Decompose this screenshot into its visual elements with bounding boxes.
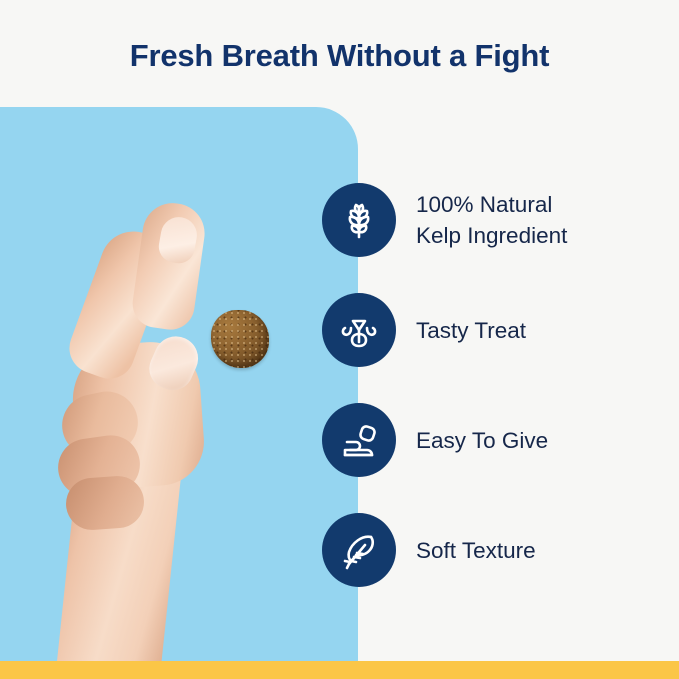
feature-item: Tasty Treat bbox=[322, 293, 662, 367]
feature-label: Soft Texture bbox=[416, 513, 536, 587]
feature-item: Soft Texture bbox=[322, 513, 662, 587]
feature-label: Tasty Treat bbox=[416, 293, 526, 367]
kelp-leaf-icon bbox=[322, 183, 396, 257]
hand-holding-treat-illustration bbox=[0, 107, 358, 661]
feather-icon bbox=[322, 513, 396, 587]
hand-with-treat-icon bbox=[322, 403, 396, 477]
treat-chew bbox=[211, 310, 269, 368]
feature-item: Easy To Give bbox=[322, 403, 662, 477]
feature-label: 100% Natural Kelp Ingredient bbox=[416, 183, 567, 257]
product-photo-panel bbox=[0, 107, 358, 661]
infographic-page: Fresh Breath Without a Fight bbox=[0, 0, 679, 679]
page-title: Fresh Breath Without a Fight bbox=[0, 36, 679, 76]
feature-item: 100% Natural Kelp Ingredient bbox=[322, 183, 662, 257]
feature-label: Easy To Give bbox=[416, 403, 548, 477]
bottom-accent-bar bbox=[0, 661, 679, 679]
dog-snout-icon bbox=[322, 293, 396, 367]
feature-list: 100% Natural Kelp Ingredient Tasty Treat bbox=[322, 183, 662, 623]
